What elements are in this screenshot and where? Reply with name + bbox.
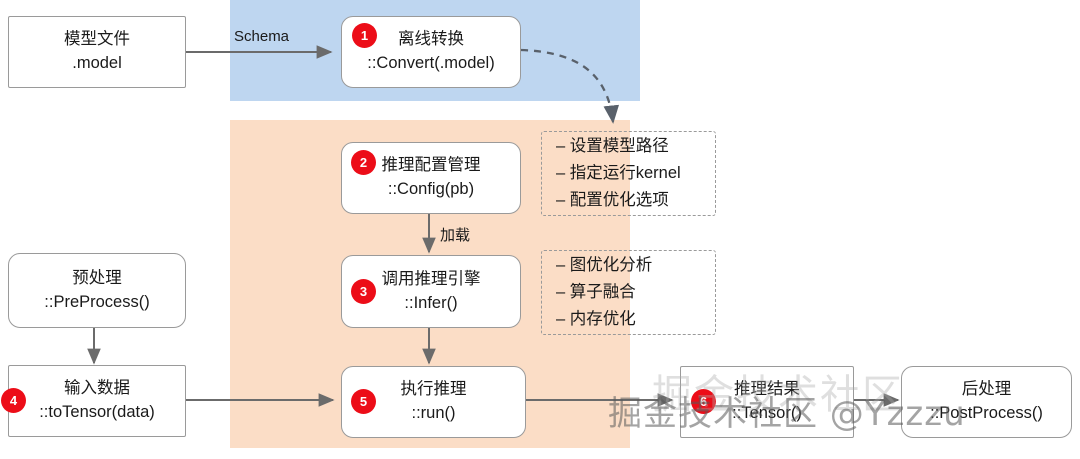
step-badge-4: 4 — [1, 388, 26, 413]
node-model-file-line2: .model — [72, 52, 122, 76]
watermark: 掘金技术社区 @Yzzzu — [608, 386, 966, 435]
annotation-infer-item-1: – 算子融合 — [556, 279, 715, 306]
node-postprocess-line1: 后处理 — [962, 378, 1012, 402]
node-input-data-line2: ::toTensor(data) — [39, 401, 155, 425]
node-inference-config-line2: ::Config(pb) — [388, 178, 474, 202]
node-input-data[interactable]: 输入数据 ::toTensor(data) — [8, 365, 186, 437]
annotation-config-item-1: – 指定运行kernel — [556, 160, 715, 187]
step-badge-2: 2 — [351, 150, 376, 175]
step-badge-1: 1 — [352, 23, 377, 48]
step-badge-5: 5 — [351, 389, 376, 414]
node-run-inference-line1: 执行推理 — [401, 378, 467, 402]
node-model-file-line1: 模型文件 — [64, 28, 130, 52]
step-badge-3: 3 — [351, 279, 376, 304]
annotation-config-item-0: – 设置模型路径 — [556, 133, 715, 160]
annotation-config-item-2: – 配置优化选项 — [556, 187, 715, 214]
edge-convert-to-config-details — [521, 50, 613, 122]
annotation-infer-item-2: – 内存优化 — [556, 306, 715, 333]
diagram-canvas: 模型文件 .model 离线转换 ::Convert(.model) 1 推理配… — [0, 0, 1080, 459]
node-offline-convert-line2: ::Convert(.model) — [367, 52, 494, 76]
node-inference-config-line1: 推理配置管理 — [382, 154, 481, 178]
node-run-inference-line2: ::run() — [411, 402, 455, 426]
node-preprocess-line1: 预处理 — [72, 267, 122, 291]
node-preprocess-line2: ::PreProcess() — [44, 291, 149, 315]
node-input-data-line1: 输入数据 — [64, 377, 130, 401]
node-call-inference-engine-line2: ::Infer() — [404, 292, 457, 316]
node-model-file[interactable]: 模型文件 .model — [8, 16, 186, 88]
node-preprocess[interactable]: 预处理 ::PreProcess() — [8, 253, 186, 328]
annotation-config-details: – 设置模型路径 – 指定运行kernel – 配置优化选项 — [541, 131, 716, 216]
node-offline-convert-line1: 离线转换 — [398, 28, 464, 52]
node-call-inference-engine-line1: 调用推理引擎 — [382, 268, 481, 292]
edge-label-schema: Schema — [234, 28, 289, 45]
annotation-infer-details: – 图优化分析 – 算子融合 – 内存优化 — [541, 250, 716, 335]
annotation-infer-item-0: – 图优化分析 — [556, 252, 715, 279]
edge-label-load: 加载 — [440, 224, 470, 245]
